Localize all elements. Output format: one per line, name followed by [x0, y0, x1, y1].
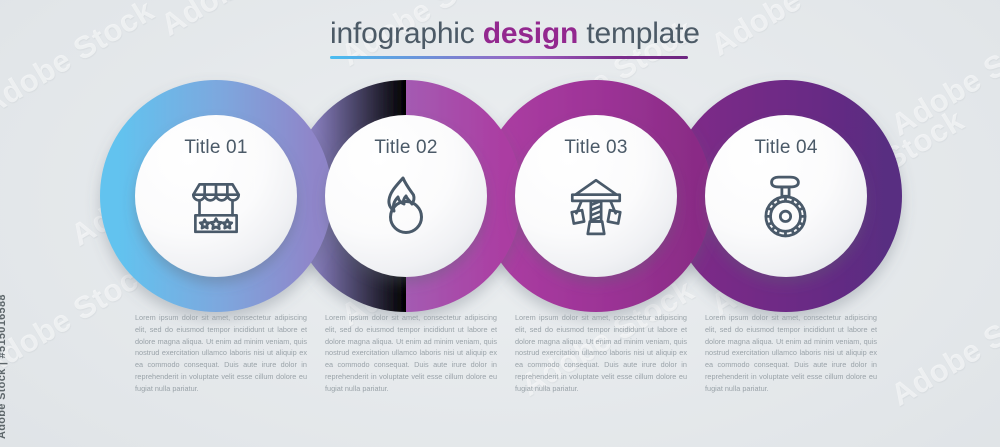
- body-copy-3: Lorem ipsum dolor sit amet, consectetur …: [515, 312, 687, 395]
- unicycle-icon: [750, 169, 822, 241]
- stock-id-block: Adobe Stock | #515016588: [8, 269, 28, 439]
- card-title-3: Title 03: [515, 137, 677, 159]
- stock-id-text: Adobe Stock | #515016588: [0, 294, 8, 439]
- card-step-3[interactable]: Title 03: [515, 115, 677, 241]
- card-step-1[interactable]: Title 01: [135, 115, 297, 241]
- body-copy-4: Lorem ipsum dolor sit amet, consectetur …: [705, 312, 877, 395]
- card-step-2[interactable]: Title 02: [325, 115, 487, 241]
- card-title-1: Title 01: [135, 137, 297, 159]
- card-step-4[interactable]: Title 04: [705, 115, 867, 241]
- carousel-swing-ride-icon: [560, 169, 632, 241]
- market-stall-icon: [180, 169, 252, 241]
- card-title-2: Title 02: [325, 137, 487, 159]
- card-title-4: Title 04: [705, 137, 867, 159]
- body-copy-1: Lorem ipsum dolor sit amet, consectetur …: [135, 312, 307, 395]
- infographic-canvas: Adobe Stock Adobe Stock Adobe Stock Adob…: [0, 0, 1000, 447]
- fire-ring-icon: [370, 169, 442, 241]
- body-copy-2: Lorem ipsum dolor sit amet, consectetur …: [325, 312, 497, 395]
